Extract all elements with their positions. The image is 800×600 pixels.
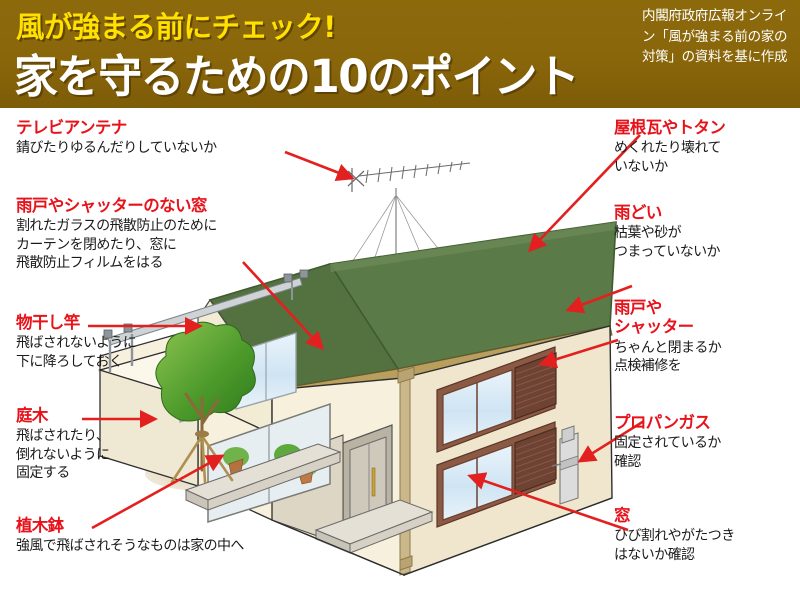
source-credit: 内閣府政府広報オンライン「風が強まる前の家の対策」の資料を基に作成 [642, 6, 792, 68]
callout-body-garden-tree: 飛ばされたり、 倒れないように 固定する [16, 427, 110, 482]
callout-title-roof-tiles: 屋根瓦やトタン [614, 118, 725, 137]
callout-garden-tree: 庭木 飛ばされたり、 倒れないように 固定する [16, 406, 110, 482]
callout-storm-shutter: 雨戸や シャッター ちゃんと閉まるか 点検補修を [614, 298, 721, 375]
callout-title-propane-gas: プロパンガス [614, 413, 721, 432]
callout-body-tv-antenna: 錆びたりゆるんだりしていないか [16, 139, 217, 157]
callout-laundry-pole: 物干し竿 飛ばされないように 下に降ろしておく [16, 313, 136, 371]
callout-window: 窓 ひび割れやがたつき はないか確認 [614, 506, 735, 564]
callout-rain-gutter: 雨どい 枯葉や砂が つまっていないか [614, 203, 720, 261]
callout-title-laundry-pole: 物干し竿 [16, 313, 136, 332]
callout-body-propane-gas: 固定されているか 確認 [614, 434, 721, 470]
callout-title-tv-antenna: テレビアンテナ [16, 118, 217, 137]
callout-body-rain-gutter: 枯葉や砂が つまっていないか [614, 224, 720, 260]
callout-title-flower-pot: 植木鉢 [16, 516, 244, 535]
callout-title-garden-tree: 庭木 [16, 406, 110, 425]
callout-body-roof-tiles: めくれたり壊れて いないか [614, 139, 725, 175]
callout-flower-pot: 植木鉢 強風で飛ばされそうなものは家の中へ [16, 516, 244, 556]
header-banner: 風が強まる前にチェック! 家を守るための10のポイント 内閣府政府広報オンライン… [0, 0, 800, 108]
callout-title-rain-gutter: 雨どい [614, 203, 720, 222]
callout-tv-antenna: テレビアンテナ 錆びたりゆるんだりしていないか [16, 118, 217, 158]
callout-body-storm-shutter: ちゃんと閉まるか 点検補修を [614, 339, 721, 375]
callout-body-window: ひび割れやがたつき はないか確認 [614, 527, 735, 563]
callout-window-no-shutter: 雨戸やシャッターのない窓 割れたガラスの飛散防止のために カーテンを閉めたり、窓… [16, 196, 217, 272]
page-title: 家を守るための10のポイント [14, 40, 578, 105]
callout-body-laundry-pole: 飛ばされないように 下に降ろしておく [16, 334, 136, 370]
callout-body-flower-pot: 強風で飛ばされそうなものは家の中へ [16, 537, 244, 555]
callout-title-storm-shutter-line1: 雨戸や [614, 298, 721, 317]
callout-title-window: 窓 [614, 506, 735, 525]
callout-roof-tiles: 屋根瓦やトタン めくれたり壊れて いないか [614, 118, 725, 176]
callout-title-storm-shutter-line2: シャッター [614, 317, 721, 336]
callout-propane-gas: プロパンガス 固定されているか 確認 [614, 413, 721, 471]
callout-body-window-no-shutter: 割れたガラスの飛散防止のために カーテンを閉めたり、窓に 飛散防止フィルムをはる [16, 217, 217, 272]
callout-title-window-no-shutter: 雨戸やシャッターのない窓 [16, 196, 217, 215]
